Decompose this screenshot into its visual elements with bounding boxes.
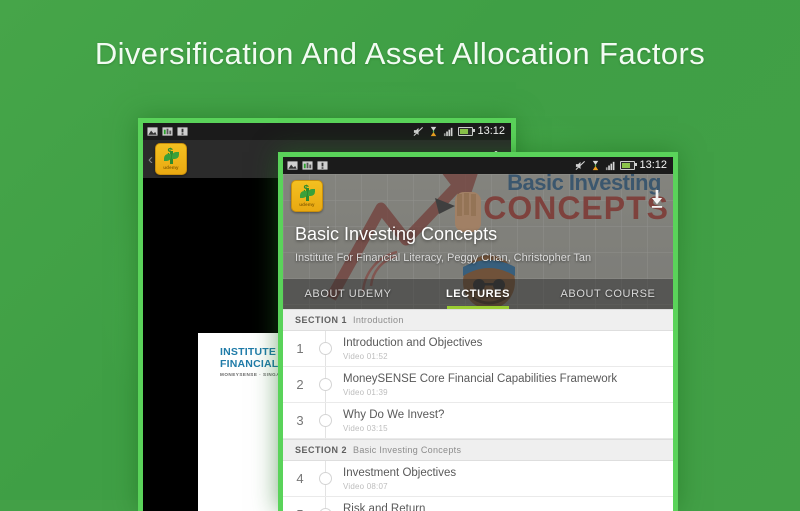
lecture-title: Risk and Return	[343, 502, 425, 511]
warning-icon	[177, 126, 188, 137]
lecture-number: 2	[287, 377, 313, 392]
app-icon	[302, 160, 313, 171]
section-label: SECTION 2	[295, 445, 347, 455]
page-title: Diversification And Asset Allocation Fac…	[0, 36, 800, 72]
lecture-text: Investment Objectives Video 08:07	[337, 466, 456, 491]
mute-icon	[575, 160, 586, 171]
front-device: 13:12	[278, 152, 678, 511]
section-label: SECTION 1	[295, 315, 347, 325]
front-device-screen: Basic Investing CONCEPTS $ udemy Basic I…	[283, 174, 673, 511]
list-item[interactable]: 5 Risk and Return Video 00:00	[283, 497, 673, 511]
battery-icon	[458, 127, 473, 136]
lecture-status-icon[interactable]	[313, 497, 337, 511]
lecture-meta: Video 01:52	[343, 352, 482, 361]
lecture-text: Risk and Return Video 00:00	[337, 502, 425, 511]
lecture-text: MoneySENSE Core Financial Capabilities F…	[337, 372, 617, 397]
download-icon[interactable]	[649, 190, 665, 208]
back-status-bar: 13:12	[143, 123, 511, 140]
front-status-clock: 13:12	[639, 160, 667, 171]
lecture-status-icon[interactable]	[313, 367, 337, 402]
money-plant-icon: $	[164, 149, 179, 166]
lecture-title: Why Do We Invest?	[343, 408, 444, 422]
hero-udemy-badge[interactable]: $ udemy	[291, 180, 323, 212]
status-right-icons: 13:12	[413, 126, 507, 137]
back-chevron-icon[interactable]: ‹	[145, 151, 155, 168]
tab-lectures[interactable]: LECTURES	[413, 279, 543, 309]
lecture-list[interactable]: SECTION 1Introduction 1 Introduction and…	[283, 309, 673, 511]
course-tab-bar: ABOUT UDEMY LECTURES ABOUT COURSE	[283, 279, 673, 309]
sync-icon	[590, 160, 601, 171]
status-clock: 13:12	[477, 126, 505, 137]
lecture-text: Why Do We Invest? Video 03:15	[337, 408, 444, 433]
lecture-meta: Video 03:15	[343, 424, 444, 433]
list-item[interactable]: 2 MoneySENSE Core Financial Capabilities…	[283, 367, 673, 403]
lecture-title: Investment Objectives	[343, 466, 456, 480]
front-status-left-icons	[287, 160, 328, 171]
app-icon	[162, 126, 173, 137]
lecture-number: 5	[287, 507, 313, 511]
signal-icon	[443, 126, 454, 137]
lecture-number: 4	[287, 471, 313, 486]
course-title: Basic Investing Concepts	[295, 224, 497, 245]
course-instructors: Institute For Financial Literacy, Peggy …	[295, 252, 591, 264]
lecture-text: Introduction and Objectives Video 01:52	[337, 336, 482, 361]
lecture-number: 1	[287, 341, 313, 356]
list-item[interactable]: 3 Why Do We Invest? Video 03:15	[283, 403, 673, 439]
money-plant-icon: $	[300, 186, 315, 203]
udemy-badge[interactable]: $ udemy	[155, 143, 187, 175]
image-icon	[287, 160, 298, 171]
tab-about-course[interactable]: ABOUT COURSE	[543, 279, 673, 309]
signal-icon	[605, 160, 616, 171]
section-name: Basic Investing Concepts	[353, 445, 461, 455]
lecture-status-icon[interactable]	[313, 331, 337, 366]
course-hero: Basic Investing CONCEPTS $ udemy Basic I…	[283, 174, 673, 309]
lecture-title: Introduction and Objectives	[343, 336, 482, 350]
lecture-meta: Video 08:07	[343, 482, 456, 491]
section-name: Introduction	[353, 315, 404, 325]
list-item[interactable]: 1 Introduction and Objectives Video 01:5…	[283, 331, 673, 367]
status-left-icons	[147, 126, 188, 137]
battery-icon	[620, 161, 635, 170]
section-header: SECTION 2Basic Investing Concepts	[283, 439, 673, 461]
sync-icon	[428, 126, 439, 137]
lecture-status-icon[interactable]	[313, 403, 337, 438]
front-status-right-icons: 13:12	[575, 160, 669, 171]
section-header: SECTION 1Introduction	[283, 309, 673, 331]
tab-about-udemy[interactable]: ABOUT UDEMY	[283, 279, 413, 309]
udemy-badge[interactable]: $ udemy	[291, 180, 323, 212]
list-item[interactable]: 4 Investment Objectives Video 08:07	[283, 461, 673, 497]
lecture-title: MoneySENSE Core Financial Capabilities F…	[343, 372, 617, 386]
warning-icon	[317, 160, 328, 171]
front-status-bar: 13:12	[283, 157, 673, 174]
image-icon	[147, 126, 158, 137]
mute-icon	[413, 126, 424, 137]
lecture-meta: Video 01:39	[343, 388, 617, 397]
lecture-number: 3	[287, 413, 313, 428]
lecture-status-icon[interactable]	[313, 461, 337, 496]
